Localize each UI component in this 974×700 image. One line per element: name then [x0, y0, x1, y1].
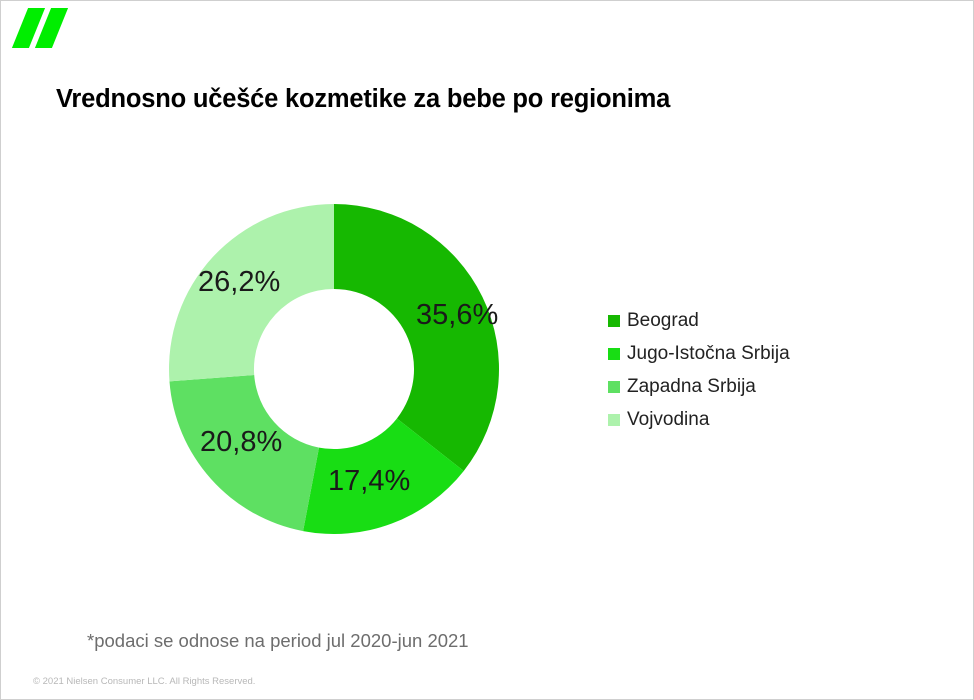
slice-label-jugo-istocna-srbija: 17,4% [328, 465, 410, 498]
slice-label-beograd: 35,6% [416, 299, 498, 332]
donut-chart: 35,6% 17,4% 20,8% 26,2% [169, 204, 499, 534]
legend-label: Vojvodina [627, 409, 709, 431]
legend-label: Beograd [627, 310, 699, 332]
legend-swatch-icon [608, 348, 620, 360]
slice-label-vojvodina: 26,2% [198, 266, 280, 299]
donut-slice[interactable] [334, 204, 499, 471]
legend-item-vojvodina[interactable]: Vojvodina [608, 403, 790, 436]
page-title: Vrednosno učešće kozmetike za bebe po re… [56, 85, 670, 114]
nielsen-logo [10, 8, 66, 48]
legend-label: Jugo-Istočna Srbija [627, 343, 790, 365]
legend-item-jugo-istocna-srbija[interactable]: Jugo-Istočna Srbija [608, 337, 790, 370]
legend-label: Zapadna Srbija [627, 376, 756, 398]
legend-swatch-icon [608, 414, 620, 426]
slice-label-zapadna-srbija: 20,8% [200, 426, 282, 459]
footnote-text: *podaci se odnose na period jul 2020-jun… [87, 630, 469, 652]
chart-legend: Beograd Jugo-Istočna Srbija Zapadna Srbi… [608, 304, 790, 436]
legend-item-beograd[interactable]: Beograd [608, 304, 790, 337]
slide-canvas: Vrednosno učešće kozmetike za bebe po re… [0, 0, 974, 700]
legend-item-zapadna-srbija[interactable]: Zapadna Srbija [608, 370, 790, 403]
copyright-text: © 2021 Nielsen Consumer LLC. All Rights … [33, 676, 255, 687]
legend-swatch-icon [608, 315, 620, 327]
legend-swatch-icon [608, 381, 620, 393]
